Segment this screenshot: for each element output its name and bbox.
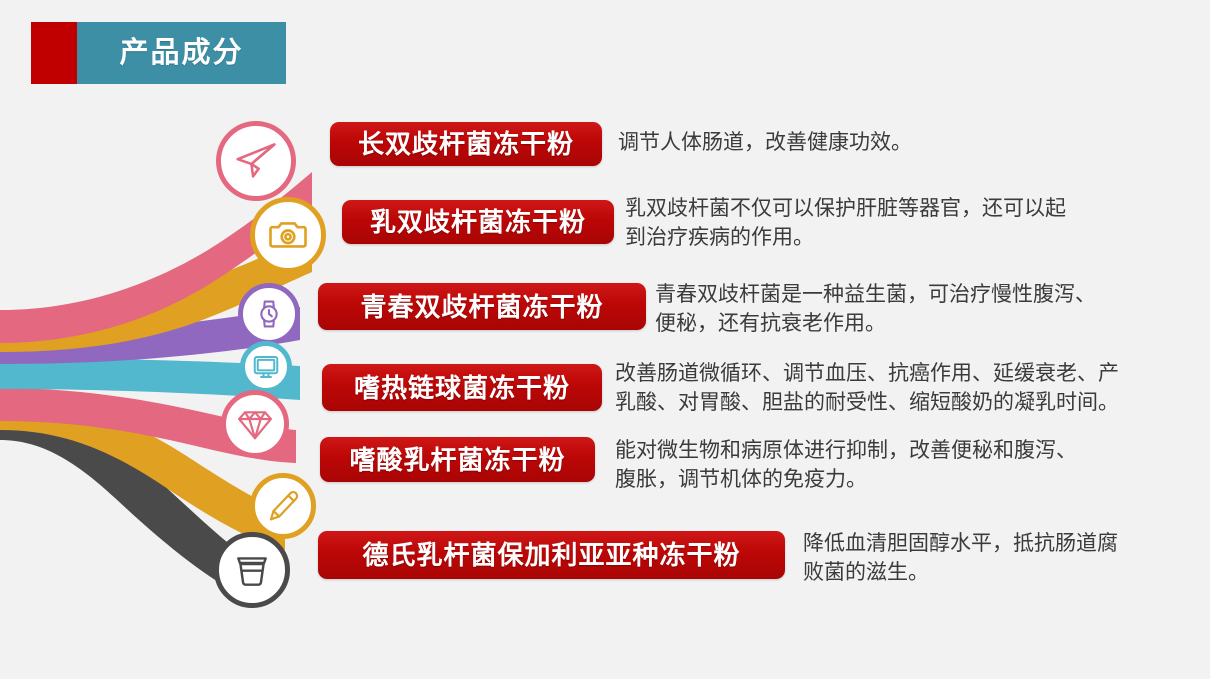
item-icon-5[interactable] xyxy=(221,390,289,458)
item-icon-6[interactable] xyxy=(250,473,316,539)
item-label-pill-1[interactable]: 长双歧杆菌冻干粉 xyxy=(330,122,602,166)
item-label-6: 德氏乳杆菌保加利亚亚种冻干粉 xyxy=(362,542,740,568)
title-body: 产品成分 xyxy=(77,22,286,84)
item-icon-4[interactable] xyxy=(240,341,292,393)
ribbon-7-dark xyxy=(0,405,250,600)
item-icon-7[interactable] xyxy=(214,532,290,608)
monitor-icon xyxy=(251,352,281,382)
camera-icon xyxy=(267,214,309,256)
item-label-2: 乳双歧杆菌冻干粉 xyxy=(370,209,586,235)
item-icon-3[interactable] xyxy=(238,283,300,345)
title-accent-bar xyxy=(31,22,77,84)
coffee-cup-icon xyxy=(231,549,273,591)
item-label-1: 长双歧杆菌冻干粉 xyxy=(358,131,574,157)
item-description-2: 乳双歧杆菌不仅可以保护肝脏等器官，还可以起 到治疗疾病的作用。 xyxy=(625,194,1195,252)
item-description-4: 改善肠道微循环、调节血压、抗癌作用、延缓衰老、产 乳酸、对胃酸、胆盐的耐受性、缩… xyxy=(615,359,1205,417)
item-description-3: 青春双歧杆菌是一种益生菌，可治疗慢性腹泻、 便秘，还有抗衰老作用。 xyxy=(655,280,1205,338)
item-icon-1[interactable] xyxy=(216,121,296,201)
slide-canvas: 产品成分 xyxy=(0,0,1210,679)
item-description-1: 调节人体肠道，改善健康功效。 xyxy=(618,128,1178,157)
item-label-pill-4[interactable]: 嗜热链球菌冻干粉 xyxy=(322,364,602,411)
pencil-icon xyxy=(264,487,302,525)
item-description-6: 降低血清胆固醇水平，抵抗肠道腐 败菌的滋生。 xyxy=(803,529,1203,587)
paper-plane-icon xyxy=(234,139,278,183)
item-label-pill-5[interactable]: 嗜酸乳杆菌冻干粉 xyxy=(320,437,595,482)
item-label-pill-3[interactable]: 青春双歧杆菌冻干粉 xyxy=(318,283,646,330)
item-label-pill-6[interactable]: 德氏乳杆菌保加利亚亚种冻干粉 xyxy=(318,531,785,579)
item-label-pill-2[interactable]: 乳双歧杆菌冻干粉 xyxy=(342,200,614,244)
watch-icon xyxy=(252,297,286,331)
item-icon-2[interactable] xyxy=(250,197,326,273)
item-description-5: 能对微生物和病原体进行抑制，改善便秘和腹泻、 腹胀，调节机体的免疫力。 xyxy=(615,436,1175,494)
page-title: 产品成分 xyxy=(119,39,243,68)
item-label-4: 嗜热链球菌冻干粉 xyxy=(354,375,570,401)
page-title-banner: 产品成分 xyxy=(31,22,286,84)
item-label-3: 青春双歧杆菌冻干粉 xyxy=(360,294,603,320)
diamond-icon xyxy=(235,404,275,444)
item-label-5: 嗜酸乳杆菌冻干粉 xyxy=(349,447,565,473)
